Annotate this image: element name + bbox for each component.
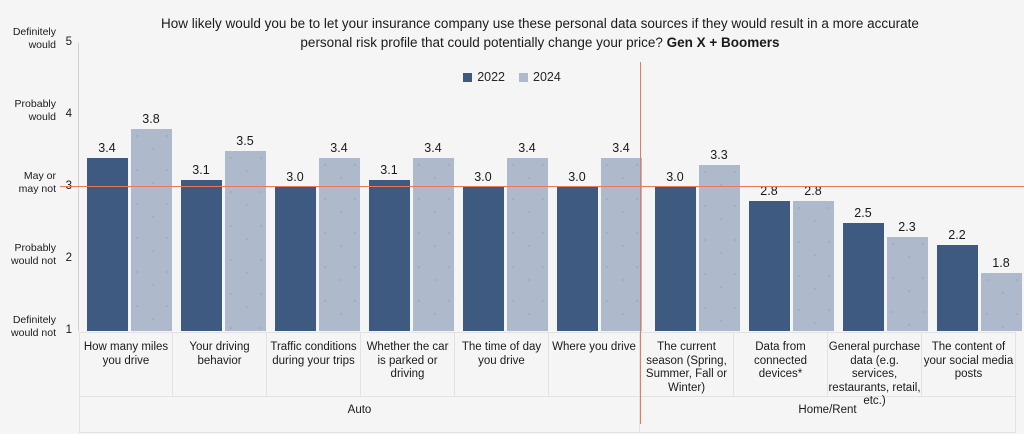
category-label: The content of your social media posts [922, 332, 1016, 397]
category-label: Traffic conditions during your trips [267, 332, 361, 397]
bar-2022[interactable] [557, 187, 598, 331]
section-label-row: AutoHome/Rent [79, 397, 1024, 433]
bar-group: 3.43.8 [87, 43, 172, 331]
section-label-home-rent: Home/Rent [640, 397, 1016, 433]
bar-value-label: 3.4 [81, 141, 133, 155]
bar-value-label: 1.8 [975, 256, 1024, 270]
bar-2024[interactable] [413, 158, 454, 331]
bar-2024[interactable] [131, 129, 172, 331]
bar-value-label: 3.0 [269, 170, 321, 184]
category-label-row: How many miles you driveYour driving beh… [79, 332, 1024, 397]
plot-area: 3.43.83.13.53.03.43.13.43.03.43.03.43.03… [79, 43, 1024, 331]
bar-2022[interactable] [463, 187, 504, 331]
bar-group: 2.82.8 [749, 43, 834, 331]
category-label: The current season (Spring, Summer, Fall… [640, 332, 734, 397]
y-axis-tick-value: 5 [66, 36, 72, 48]
bar-value-label: 3.5 [219, 134, 271, 148]
bar-value-label: 2.5 [837, 206, 889, 220]
section-divider [640, 62, 641, 424]
bar-group: 3.03.4 [463, 43, 548, 331]
reference-line-3 [60, 186, 1024, 187]
section-label-auto: Auto [79, 397, 640, 433]
category-label: The time of day you drive [455, 332, 549, 397]
bar-group: 3.13.5 [181, 43, 266, 331]
bar-value-label: 3.4 [313, 141, 365, 155]
y-axis-tick-text: Probablywould [0, 98, 56, 123]
bar-group: 3.03.3 [655, 43, 740, 331]
bar-group: 3.13.4 [369, 43, 454, 331]
bar-2022[interactable] [749, 201, 790, 331]
bar-2022[interactable] [275, 187, 316, 331]
bar-value-label: 3.0 [457, 170, 509, 184]
y-axis-tick-value: 4 [66, 108, 72, 120]
bar-value-label: 3.0 [551, 170, 603, 184]
bar-value-label: 3.4 [501, 141, 553, 155]
y-axis-tick-text: Probablywould not [0, 242, 56, 267]
category-label: Your driving behavior [173, 332, 267, 397]
bar-2022[interactable] [369, 180, 410, 331]
y-axis-tick-text: Definitelywould not [0, 314, 56, 339]
category-label: Whether the car is parked or driving [361, 332, 455, 397]
bar-value-label: 3.3 [693, 148, 745, 162]
bar-value-label: 3.4 [407, 141, 459, 155]
bar-group: 3.03.4 [275, 43, 360, 331]
bar-value-label: 3.0 [649, 170, 701, 184]
bar-2024[interactable] [981, 273, 1022, 331]
bar-2024[interactable] [793, 201, 834, 331]
category-label: How many miles you drive [79, 332, 173, 397]
bar-value-label: 3.1 [363, 163, 415, 177]
bar-2024[interactable] [319, 158, 360, 331]
bar-2022[interactable] [655, 187, 696, 331]
bar-2022[interactable] [181, 180, 222, 331]
bar-2024[interactable] [887, 237, 928, 331]
bar-value-label: 2.3 [881, 220, 933, 234]
bar-2022[interactable] [87, 158, 128, 331]
bar-2024[interactable] [225, 151, 266, 331]
bar-value-label: 3.8 [125, 112, 177, 126]
bar-group: 2.52.3 [843, 43, 928, 331]
bar-group: 3.03.4 [557, 43, 642, 331]
category-label: Where you drive [549, 332, 640, 397]
bar-2022[interactable] [843, 223, 884, 331]
bar-2024[interactable] [601, 158, 642, 331]
y-axis-tick-value: 2 [66, 252, 72, 264]
category-label: General purchase data (e.g. services, re… [828, 332, 922, 397]
bar-group: 2.21.8 [937, 43, 1022, 331]
bar-value-label: 2.2 [931, 228, 983, 242]
bar-2024[interactable] [507, 158, 548, 331]
bar-value-label: 3.1 [175, 163, 227, 177]
bar-2024[interactable] [699, 165, 740, 331]
y-axis-tick-text: May ormay not [0, 170, 56, 195]
category-label: Data from connected devices* [734, 332, 828, 397]
y-axis-tick-text: Definitelywould [0, 26, 56, 51]
y-axis-tick-value: 1 [66, 324, 72, 336]
bar-2022[interactable] [937, 245, 978, 331]
